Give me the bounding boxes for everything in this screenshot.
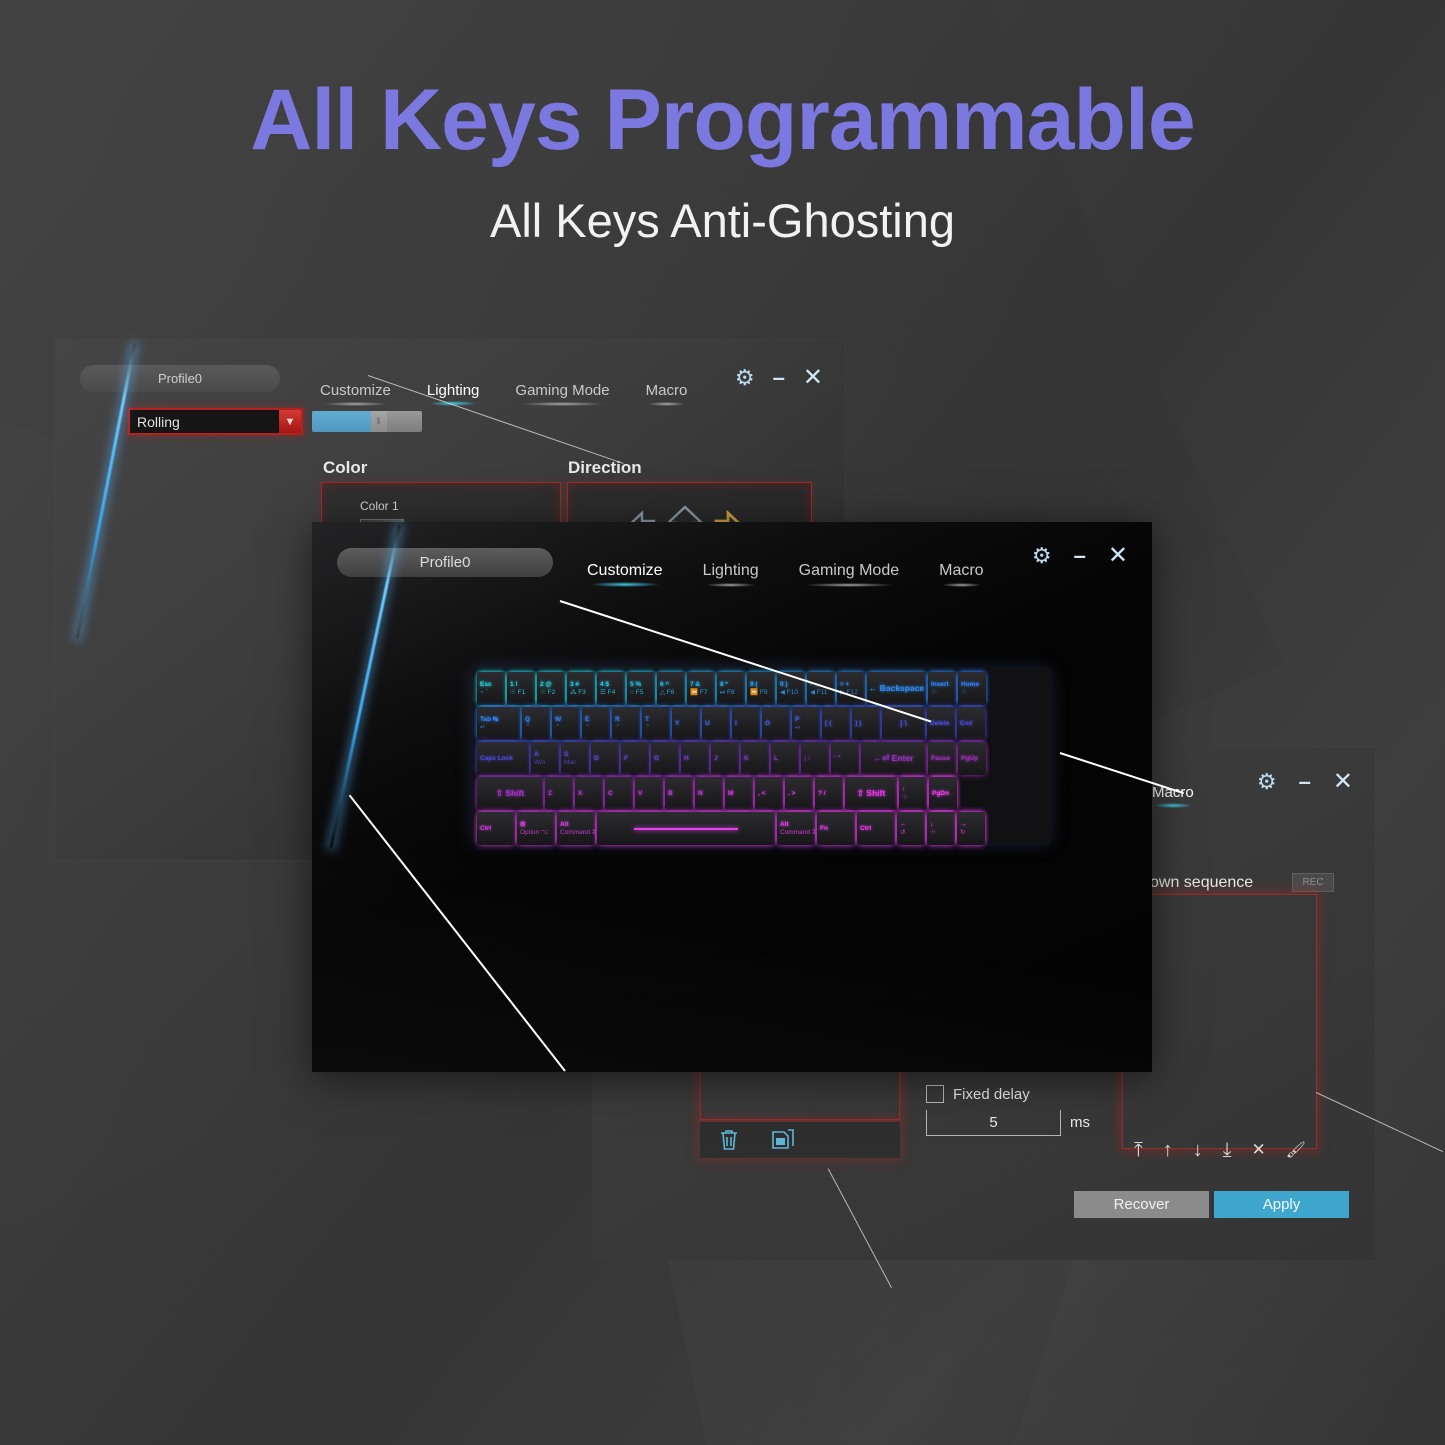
key-legend-primary: 3 #: [570, 681, 592, 688]
keyboard-key[interactable]: Ctrl: [857, 812, 895, 845]
key-legend-primary: Pause: [931, 755, 953, 762]
key-legend-primary: V: [638, 790, 660, 797]
keyboard-key[interactable]: G: [651, 742, 679, 775]
profile-label: Profile0: [158, 371, 202, 386]
keyboard-key[interactable]: ⇧ Shift: [845, 777, 897, 810]
trash-icon[interactable]: [718, 1128, 740, 1152]
keyboard-row: Ctrl⊞Option ⌥AltCommand ⌘AltCommand ⌘FnC…: [477, 812, 1047, 845]
key-legend-primary: L: [774, 755, 796, 762]
tab-macro[interactable]: Macro: [939, 562, 983, 580]
minimize-icon[interactable]: –: [1074, 545, 1086, 567]
key-legend-primary: Alt: [780, 821, 812, 828]
key-legend-primary: Tab ↹: [480, 716, 517, 723]
key-legend-primary: P: [795, 716, 817, 723]
keyboard-key[interactable]: Y: [672, 707, 700, 740]
tab-gaming-mode[interactable]: Gaming Mode: [799, 562, 900, 580]
chevron-down-icon[interactable]: ▼: [279, 410, 301, 433]
key-legend-secondary: ⏯ F8: [720, 689, 742, 696]
tab-lighting[interactable]: Lighting: [703, 562, 759, 580]
key-legend-primary: X: [578, 790, 600, 797]
keyboard-key[interactable]: ⊞Option ⌥: [517, 812, 555, 845]
keyboard-key[interactable]: Esc~ `: [477, 672, 505, 705]
keyboard-key[interactable]: J: [711, 742, 739, 775]
close-icon[interactable]: ✕: [1108, 544, 1128, 568]
key-legend-primary: A: [534, 751, 556, 758]
sequence-label: own sequence: [1150, 874, 1253, 892]
key-legend-primary: = +: [840, 681, 862, 688]
key-legend-primary: ←⏎ Enter: [874, 754, 914, 764]
key-legend-primary: B: [668, 790, 690, 797]
key-legend-primary: ⇧ Shift: [496, 789, 524, 799]
tab-gaming-mode[interactable]: Gaming Mode: [515, 382, 609, 399]
keyboard-key[interactable]: 5 %○ F5: [627, 672, 655, 705]
tab-macro[interactable]: Macro: [646, 382, 688, 399]
keyboard-key[interactable]: 8 *⏯ F8: [717, 672, 745, 705]
key-legend-primary: ← Backspace: [869, 684, 924, 694]
color-swatch-label: Color 1: [360, 499, 399, 513]
key-legend-secondary: ⌃: [645, 724, 667, 731]
key-legend-secondary: ○ F5: [630, 689, 652, 696]
headline-block: All Keys Programmable All Keys Anti-Ghos…: [0, 0, 1445, 248]
keyboard-key[interactable]: 4 $☰ F4: [597, 672, 625, 705]
key-legend-secondary: ☉: [931, 689, 953, 696]
keyboard-key[interactable]: Ctrl: [477, 812, 515, 845]
keyboard-key[interactable]: M: [725, 777, 753, 810]
key-legend-primary: [ {: [825, 720, 847, 727]
macro-order-toolbar[interactable]: ⤒ ↑ ↓ ⤓ ✕ 🖌: [1124, 1133, 1316, 1167]
keyboard-key[interactable]: AWin: [531, 742, 559, 775]
key-legend-secondary: ☉: [930, 829, 952, 836]
keyboard-key[interactable]: ←↺: [897, 812, 925, 845]
key-legend-primary: U: [705, 720, 727, 727]
key-legend-primary: ] }: [855, 720, 877, 727]
keyboard-key[interactable]: [597, 812, 775, 845]
key-legend-primary: S: [564, 751, 586, 758]
key-legend-primary: 0 ): [780, 681, 802, 688]
record-button[interactable]: REC: [1292, 873, 1334, 892]
keyboard-key[interactable]: Caps Lock: [477, 742, 529, 775]
key-legend-primary: 8 *: [720, 681, 742, 688]
profile-label: Profile0: [420, 554, 471, 571]
move-to-bottom-icon[interactable]: ⤓: [1223, 1139, 1232, 1162]
key-legend-primary: Q: [525, 716, 547, 723]
key-legend-secondary: ↺: [900, 829, 922, 836]
fixed-delay-unit: ms: [1070, 1114, 1090, 1131]
key-legend-secondary: ↵: [480, 724, 517, 731]
key-legend-secondary: ↻: [960, 829, 982, 836]
keyboard-row: Caps LockAWinSMacDFGHJKL; :' "←⏎ EnterPa…: [477, 742, 1047, 775]
close-icon[interactable]: ✕: [803, 366, 823, 390]
keyboard-key[interactable]: ⇧ Shift: [477, 777, 543, 810]
keyboard-key[interactable]: B: [665, 777, 693, 810]
key-legend-primary: Esc: [480, 681, 502, 688]
clear-all-icon[interactable]: 🖌: [1286, 1140, 1306, 1160]
keyboard-key[interactable]: AltCommand ⌘: [557, 812, 595, 845]
key-legend-primary: Caps Lock: [480, 755, 526, 762]
keyboard-key[interactable]: P⏯: [792, 707, 820, 740]
keyboard-key[interactable]: [ {: [822, 707, 850, 740]
move-to-top-icon[interactable]: ⤒: [1134, 1139, 1143, 1162]
keyboard-key[interactable]: T⌃: [642, 707, 670, 740]
keyboard-key[interactable]: Home☉: [958, 672, 986, 705]
key-legend-secondary: ⏯: [795, 724, 817, 731]
tabbar-left[interactable]: Customize Lighting Gaming Mode Macro: [320, 382, 687, 399]
key-legend-primary: Home: [961, 681, 983, 688]
keyboard-key[interactable]: 7 &⏪ F7: [687, 672, 715, 705]
key-legend-secondary: ⌃: [555, 724, 577, 731]
keyboard-key[interactable]: PgUp: [958, 742, 986, 775]
key-legend-primary: PgDn: [932, 790, 954, 797]
window-controls-right[interactable]: ⚙ – ✕: [1257, 770, 1353, 794]
key-legend-primary: H: [684, 755, 706, 762]
key-legend-primary: ←: [900, 821, 922, 828]
key-legend-primary: J: [714, 755, 736, 762]
key-legend-primary: , <: [758, 790, 780, 797]
copy-icon[interactable]: [770, 1128, 796, 1152]
key-legend-primary: . >: [788, 790, 810, 797]
keyboard-key[interactable]: K: [741, 742, 769, 775]
minimize-icon[interactable]: –: [773, 367, 785, 389]
keyboard-preview[interactable]: Esc~ `1 !☉ F12 @☉ F23 #⁂ F34 $☰ F45 %○ F…: [473, 668, 1051, 844]
keyboard-key[interactable]: , <: [755, 777, 783, 810]
key-legend-primary: K: [744, 755, 766, 762]
keyboard-key[interactable]: 2 @☉ F2: [537, 672, 565, 705]
keyboard-key[interactable]: 3 #⁂ F3: [567, 672, 595, 705]
key-legend-primary: Insert: [931, 681, 953, 688]
keyboard-key[interactable]: U: [702, 707, 730, 740]
keyboard-key[interactable]: ↓☉: [927, 812, 955, 845]
keyboard-key[interactable]: X: [575, 777, 603, 810]
keyboard-key[interactable]: O: [762, 707, 790, 740]
keyboard-key[interactable]: SMac: [561, 742, 589, 775]
keyboard-key[interactable]: F: [621, 742, 649, 775]
key-legend-primary: 9 (: [750, 681, 772, 688]
key-legend-secondary: ◀ F10: [780, 689, 802, 696]
section-title-direction: Direction: [568, 458, 642, 478]
key-legend-secondary: Command ⌘: [560, 829, 592, 836]
keyboard-key[interactable]: W⌃: [552, 707, 580, 740]
key-legend-primary: PgUp: [961, 755, 983, 762]
keyboard-key[interactable]: Pause: [928, 742, 956, 775]
keyboard-key[interactable]: →↻: [957, 812, 985, 845]
keyboard-key[interactable]: AltCommand ⌘: [777, 812, 815, 845]
key-legend-primary: Ctrl: [480, 825, 512, 832]
key-legend-primary: 1 !: [510, 681, 532, 688]
key-legend-primary: C: [608, 790, 630, 797]
keyboard-key[interactable]: C: [605, 777, 633, 810]
key-legend-secondary: ⏩ F9: [750, 689, 772, 696]
slider-knob[interactable]: ⦀: [371, 411, 387, 432]
keyboard-key[interactable]: ← Backspace: [867, 672, 926, 705]
tab-macro-right[interactable]: Macro: [1152, 784, 1194, 801]
keyboard-row: Tab ↹↵Q⌃W⌃E⌃R⌃T⌃YUIOP⏯[ {] }| \DeleteEnd: [477, 707, 1047, 740]
dropdown-value: Rolling: [130, 414, 279, 430]
window-controls-center[interactable]: ⚙ – ✕: [1032, 544, 1128, 568]
key-legend-primary: ⊞: [520, 821, 552, 828]
apply-button[interactable]: Apply: [1214, 1191, 1349, 1218]
key-legend-secondary: ☉ F1: [510, 689, 532, 696]
key-legend-primary: 4 $: [600, 681, 622, 688]
key-legend-secondary: ⌃: [525, 724, 547, 731]
recover-button[interactable]: Recover: [1074, 1191, 1209, 1218]
key-legend-primary: 7 &: [690, 681, 712, 688]
keyboard-key[interactable]: E⌃: [582, 707, 610, 740]
key-legend-secondary: Win: [534, 759, 556, 766]
delete-icon[interactable]: ✕: [1251, 1140, 1265, 1160]
brightness-slider[interactable]: ⦀: [312, 411, 422, 432]
keyboard-key[interactable]: Q⌃: [522, 707, 550, 740]
key-legend-secondary: Command ⌘: [780, 829, 812, 836]
key-legend-primary: Ctrl: [860, 825, 892, 832]
key-legend-primary: Y: [675, 720, 697, 727]
profile-selector-left[interactable]: Profile0: [80, 365, 280, 392]
checkbox-icon[interactable]: [926, 1085, 944, 1103]
keyboard-key[interactable]: ←⏎ Enter: [861, 742, 926, 775]
key-legend-primary: ↑: [902, 786, 924, 793]
keyboard-key[interactable]: . >: [785, 777, 813, 810]
close-icon[interactable]: ✕: [1333, 770, 1353, 794]
key-legend-secondary: Mac: [564, 759, 586, 766]
key-legend-primary: ' ": [834, 755, 856, 762]
key-legend-primary: R: [615, 716, 637, 723]
move-down-icon[interactable]: ↓: [1193, 1139, 1203, 1162]
move-up-icon[interactable]: ↑: [1163, 1139, 1173, 1162]
keyboard-key[interactable]: V: [635, 777, 663, 810]
spacebar-indicator: [634, 828, 737, 830]
key-legend-secondary: ⌃: [585, 724, 607, 731]
key-legend-secondary: ⌃: [615, 724, 637, 731]
keyboard-key[interactable]: PgDn: [929, 777, 957, 810]
key-legend-secondary: △ F6: [660, 689, 682, 696]
macro-entry-toolbar[interactable]: [700, 1122, 900, 1158]
gear-icon[interactable]: ⚙: [1257, 771, 1277, 793]
keyboard-key[interactable]: Z: [545, 777, 573, 810]
keyboard-key[interactable]: 6 ^△ F6: [657, 672, 685, 705]
key-legend-primary: Z: [548, 790, 570, 797]
page-subtitle: All Keys Anti-Ghosting: [0, 193, 1445, 248]
window-controls-left[interactable]: ⚙ – ✕: [735, 366, 823, 390]
keyboard-key[interactable]: ↑☉: [899, 777, 927, 810]
keyboard-key[interactable]: N: [695, 777, 723, 810]
key-legend-primary: W: [555, 716, 577, 723]
key-legend-secondary: Option ⌥: [520, 829, 552, 836]
key-legend-primary: 5 %: [630, 681, 652, 688]
keyboard-key[interactable]: ] }: [852, 707, 880, 740]
key-legend-primary: O: [765, 720, 787, 727]
key-legend-primary: M: [728, 790, 750, 797]
key-legend-secondary: ☉ F2: [540, 689, 562, 696]
key-legend-primary: E: [585, 716, 607, 723]
keyboard-key[interactable]: R⌃: [612, 707, 640, 740]
lighting-effect-dropdown[interactable]: Rolling ▼: [128, 408, 303, 435]
key-legend-primary: D: [594, 755, 616, 762]
section-title-color: Color: [323, 458, 367, 478]
keyboard-key[interactable]: ? /: [815, 777, 843, 810]
keyboard-key[interactable]: Tab ↹↵: [477, 707, 520, 740]
tab-lighting[interactable]: Lighting: [427, 382, 480, 399]
key-legend-secondary: ☉: [902, 794, 924, 801]
key-legend-primary: 2 @: [540, 681, 562, 688]
key-legend-primary: ↓: [930, 821, 952, 828]
key-legend-secondary: ⏪ F7: [690, 689, 712, 696]
tab-customize[interactable]: Customize: [587, 562, 663, 580]
key-legend-primary: Delete: [930, 720, 952, 727]
keyboard-key[interactable]: ' ": [831, 742, 859, 775]
key-legend-primary: ; :: [804, 755, 826, 762]
profile-selector-center[interactable]: Profile0: [337, 548, 553, 577]
key-legend-secondary: ☉: [961, 689, 983, 696]
key-legend-secondary: ⁂ F3: [570, 689, 592, 696]
key-legend-primary: 6 ^: [660, 681, 682, 688]
keyboard-key[interactable]: 9 (⏩ F9: [747, 672, 775, 705]
keyboard-row: ⇧ ShiftZXCVBNM, <. >? /⇧ Shift↑☉PgDn: [477, 777, 1047, 810]
keyboard-row: Esc~ `1 !☉ F12 @☉ F23 #⁂ F34 $☰ F45 %○ F…: [477, 672, 1047, 705]
key-legend-primary: T: [645, 716, 667, 723]
key-legend-primary: G: [654, 755, 676, 762]
page-title: All Keys Programmable: [0, 75, 1445, 165]
window-customize[interactable]: Profile0 Customize Lighting Gaming Mode …: [312, 522, 1152, 1072]
tabbar-center[interactable]: Customize Lighting Gaming Mode Macro: [587, 562, 984, 580]
keyboard-key[interactable]: Fn: [817, 812, 855, 845]
key-legend-primary: ? /: [818, 790, 840, 797]
key-legend-primary: End: [960, 720, 982, 727]
tab-customize[interactable]: Customize: [320, 382, 391, 399]
key-legend-primary: Alt: [560, 821, 592, 828]
keyboard-key[interactable]: H: [681, 742, 709, 775]
gear-icon[interactable]: ⚙: [735, 367, 755, 389]
keyboard-key[interactable]: 1 !☉ F1: [507, 672, 535, 705]
fixed-delay-label: Fixed delay: [953, 1086, 1030, 1103]
fixed-delay-input[interactable]: 5: [926, 1110, 1061, 1136]
keyboard-key[interactable]: I: [732, 707, 760, 740]
key-legend-secondary: ☰ F4: [600, 689, 622, 696]
key-legend-primary: N: [698, 790, 720, 797]
key-legend-primary: | \: [900, 719, 907, 729]
key-legend-primary: ⇧ Shift: [857, 789, 885, 799]
key-legend-secondary: ~ `: [480, 689, 502, 696]
key-legend-primary: F: [624, 755, 646, 762]
tabbar-right[interactable]: Macro: [1152, 784, 1194, 801]
gear-icon[interactable]: ⚙: [1032, 545, 1052, 567]
minimize-icon[interactable]: –: [1299, 771, 1311, 793]
key-legend-primary: Fn: [820, 825, 852, 832]
keyboard-key[interactable]: ; :: [801, 742, 829, 775]
key-legend-primary: →: [960, 821, 982, 828]
keyboard-key[interactable]: Insert☉: [928, 672, 956, 705]
keyboard-key[interactable]: End: [957, 707, 985, 740]
keyboard-key[interactable]: D: [591, 742, 619, 775]
keyboard-key[interactable]: Delete: [927, 707, 955, 740]
fixed-delay-checkbox[interactable]: Fixed delay: [926, 1085, 1030, 1103]
key-legend-primary: I: [735, 720, 757, 727]
keyboard-key[interactable]: L: [771, 742, 799, 775]
